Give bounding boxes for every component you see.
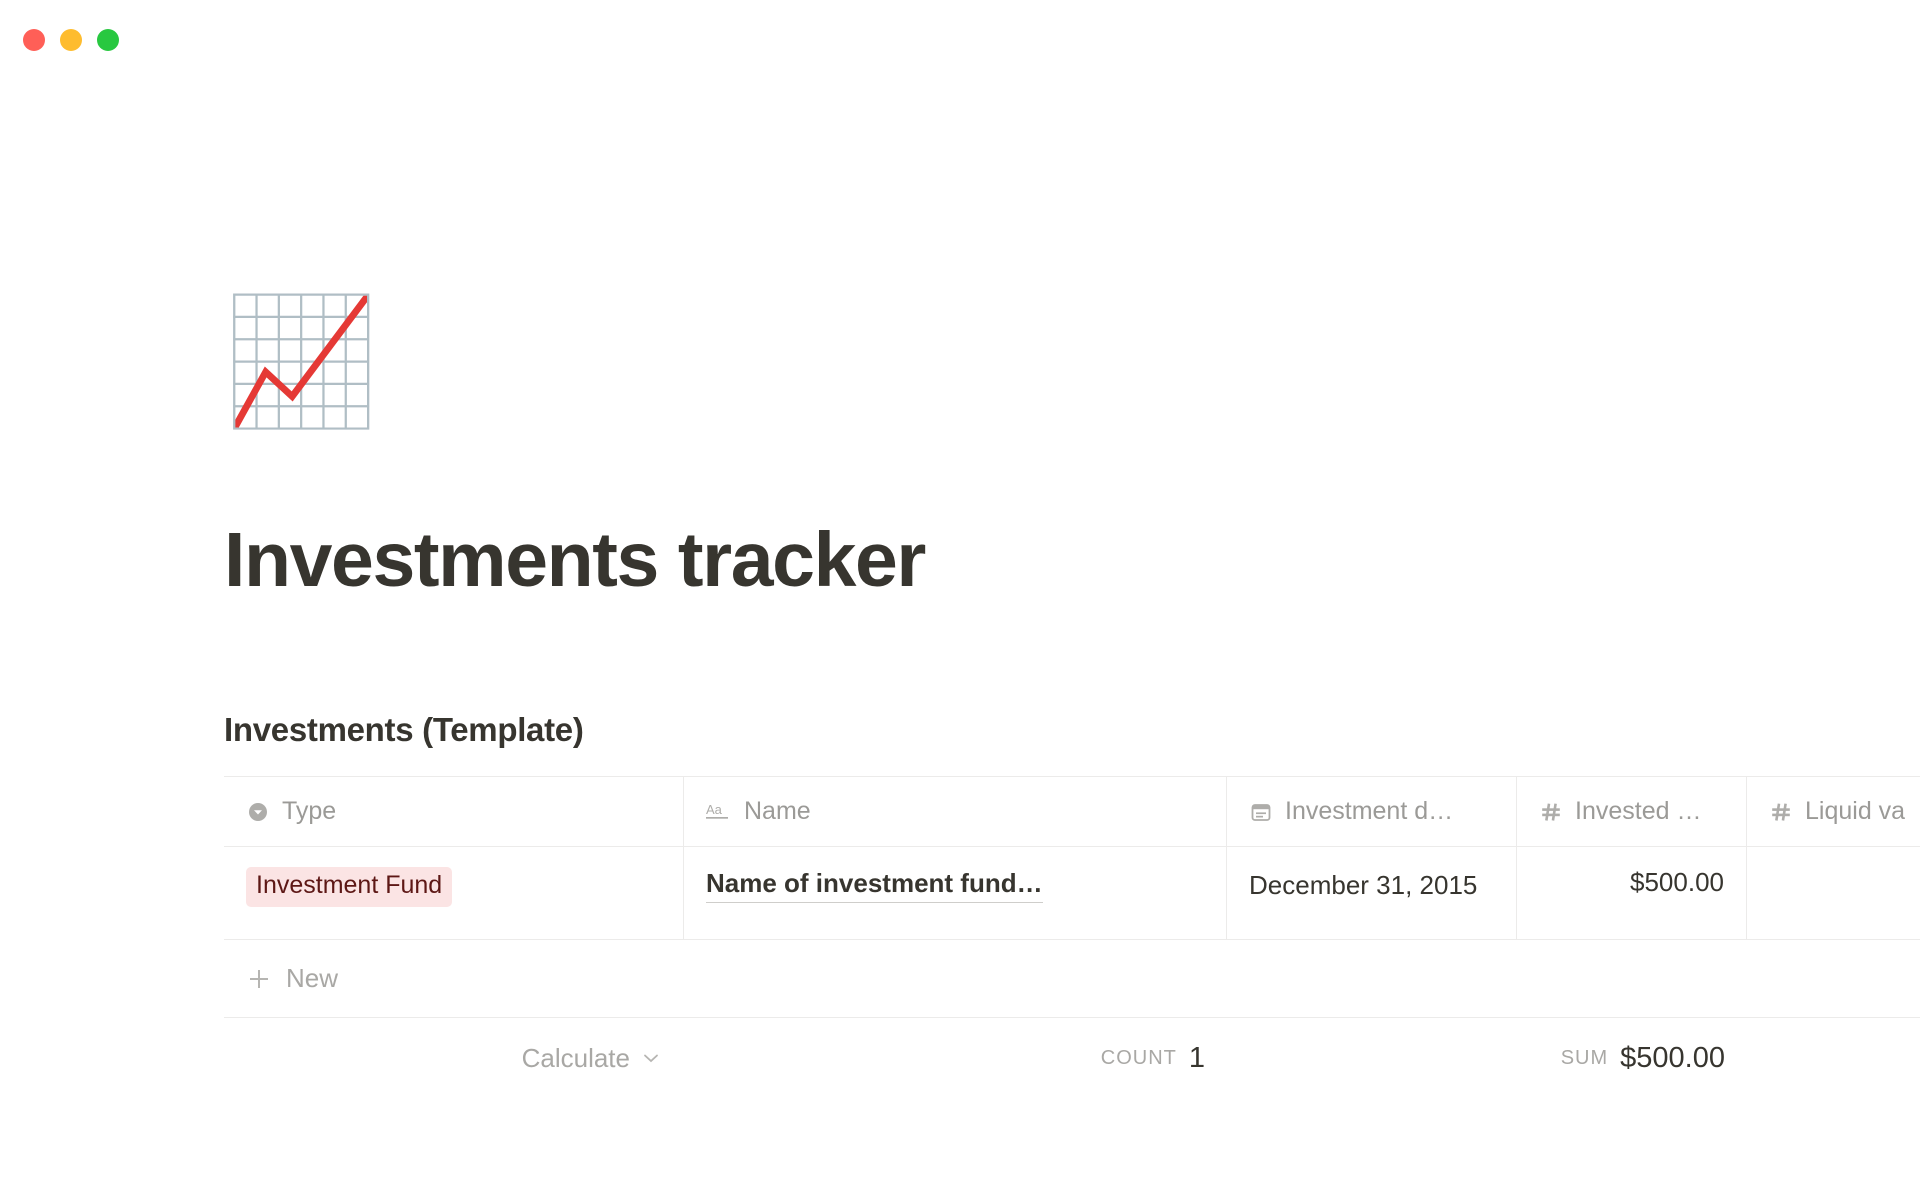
- cell-invested[interactable]: $500.00: [1517, 847, 1747, 939]
- status-badge[interactable]: Investment Fund: [246, 867, 452, 907]
- cell-liquid[interactable]: $804.6: [1747, 847, 1920, 939]
- page-content: 📈 Investments tracker Investments (Templ…: [0, 0, 1920, 1098]
- cell-type[interactable]: Investment Fund: [224, 847, 684, 939]
- column-header-date-label: Investment d…: [1285, 797, 1453, 826]
- column-header-liquid[interactable]: Liquid va: [1747, 777, 1920, 846]
- chart-increasing-emoji[interactable]: 📈: [224, 300, 384, 440]
- row-invested-value: $500.00: [1630, 867, 1724, 898]
- database-table: Type Aa Name: [224, 776, 1920, 1098]
- footer-count-label: COUNT: [1101, 1047, 1177, 1070]
- footer-sum-liquid[interactable]: SUM $804.6: [1747, 1042, 1920, 1075]
- footer-count-value: 1: [1189, 1042, 1205, 1075]
- text-aa-icon: Aa: [706, 800, 732, 824]
- number-hash-icon: [1769, 800, 1793, 824]
- footer-sum-invested-label: SUM: [1561, 1047, 1608, 1070]
- column-header-type[interactable]: Type: [224, 777, 684, 846]
- table-row[interactable]: Investment Fund Name of investment fund……: [224, 847, 1920, 940]
- footer-count-name[interactable]: COUNT 1: [684, 1042, 1227, 1075]
- column-header-date[interactable]: Investment d…: [1227, 777, 1517, 846]
- page-title[interactable]: Investments tracker: [224, 518, 1920, 603]
- database-title[interactable]: Investments (Template): [224, 711, 1920, 749]
- footer-sum-invested[interactable]: SUM $500.00: [1517, 1042, 1747, 1075]
- column-header-invested[interactable]: Invested …: [1517, 777, 1747, 846]
- footer-calculate-type[interactable]: Calculate: [224, 1043, 684, 1074]
- select-icon: [246, 800, 270, 824]
- cell-name[interactable]: Name of investment fund…: [684, 847, 1227, 939]
- table-footer-row: Calculate COUNT 1 SUM $500.00: [224, 1018, 1920, 1098]
- row-title-link[interactable]: Name of investment fund…: [706, 867, 1043, 903]
- column-header-type-label: Type: [282, 797, 336, 826]
- plus-icon: [246, 966, 272, 992]
- column-header-liquid-label: Liquid va: [1805, 797, 1905, 826]
- calendar-icon: [1249, 800, 1273, 824]
- calculate-label: Calculate: [522, 1043, 630, 1074]
- add-new-row-label: New: [286, 963, 338, 994]
- cell-date[interactable]: December 31, 2015: [1227, 847, 1517, 939]
- column-header-name-label: Name: [744, 797, 811, 826]
- row-date-value: December 31, 2015: [1249, 867, 1477, 905]
- add-new-row-button[interactable]: New: [224, 940, 1920, 1018]
- column-header-invested-label: Invested …: [1575, 797, 1701, 826]
- column-header-name[interactable]: Aa Name: [684, 777, 1227, 846]
- footer-sum-invested-value: $500.00: [1620, 1042, 1725, 1075]
- table-header-row: Type Aa Name: [224, 777, 1920, 847]
- chevron-down-icon: [640, 1047, 662, 1069]
- number-hash-icon: [1539, 800, 1563, 824]
- svg-text:Aa: Aa: [706, 802, 723, 817]
